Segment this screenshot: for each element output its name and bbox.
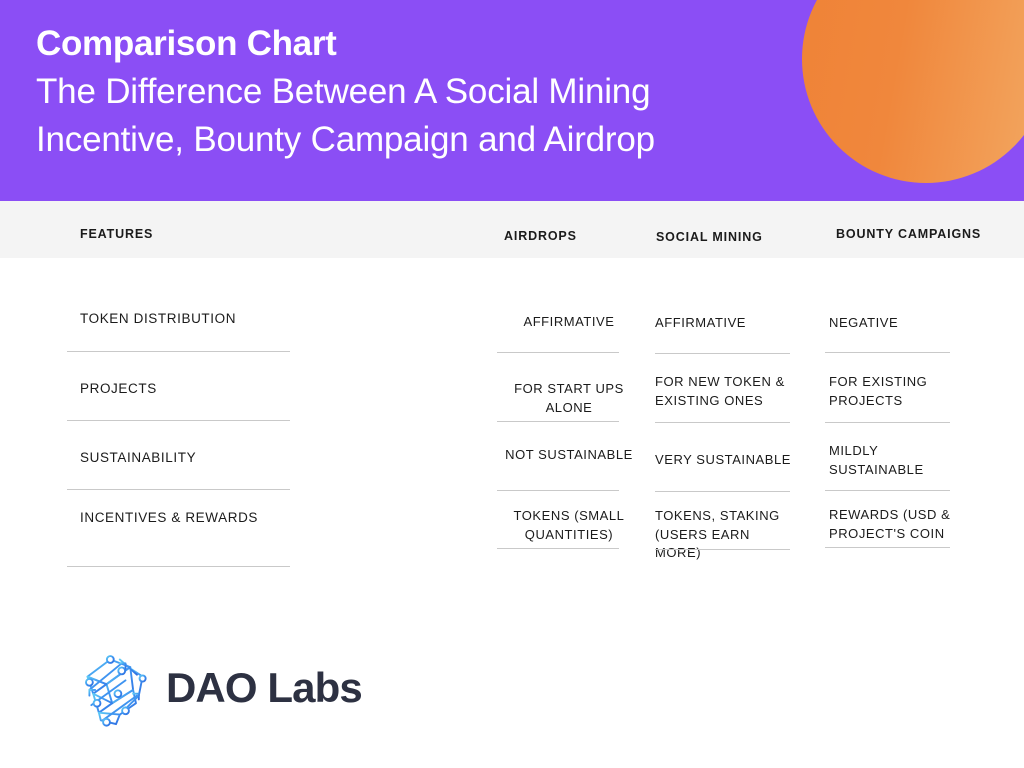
- row-divider: [497, 548, 619, 549]
- table-row: TOKEN DISTRIBUTION: [80, 310, 330, 329]
- dao-labs-network-mark: [78, 648, 154, 728]
- table-row: AFFIRMATIVE: [655, 314, 797, 333]
- table-row: SUSTAINABILITY: [80, 449, 330, 468]
- table-row: FOR EXISTING PROJECTS: [829, 373, 969, 410]
- row-divider: [67, 420, 290, 421]
- column-header-airdrops: AIRDROPS: [504, 229, 577, 243]
- table-row: AFFIRMATIVE: [494, 313, 644, 332]
- table-row: FOR START UPS ALONE: [494, 380, 644, 417]
- table-row: INCENTIVES & REWARDS: [80, 509, 330, 528]
- table-row: PROJECTS: [80, 380, 330, 399]
- header-banner: Comparison Chart The Difference Between …: [0, 0, 1024, 201]
- table-row: FOR NEW TOKEN & EXISTING ONES: [655, 373, 797, 410]
- table-row: REWARDS (USD & PROJECT'S COIN: [829, 506, 969, 543]
- table-column-header-row: FEATURES AIRDROPS SOCIAL MINING BOUNTY C…: [0, 201, 1024, 258]
- row-divider: [497, 421, 619, 422]
- table-row: TOKENS, STAKING (USERS EARN MORE): [655, 507, 797, 563]
- row-divider: [825, 547, 950, 548]
- column-header-bounty-campaigns: BOUNTY CAMPAIGNS: [836, 227, 981, 241]
- header-text-group: Comparison Chart The Difference Between …: [36, 20, 655, 164]
- row-divider: [655, 549, 790, 550]
- table-row: NEGATIVE: [829, 314, 969, 333]
- row-divider: [825, 422, 950, 423]
- column-header-social-mining: SOCIAL MINING: [656, 230, 763, 244]
- table-row: NOT SUSTAINABLE: [494, 446, 644, 465]
- page-subtitle-line-2: Incentive, Bounty Campaign and Airdrop: [36, 116, 655, 164]
- row-divider: [67, 566, 290, 567]
- row-divider: [497, 352, 619, 353]
- brand-logo: DAO Labs: [78, 648, 362, 728]
- brand-wordmark: DAO Labs: [166, 664, 362, 712]
- row-divider: [67, 351, 290, 352]
- comparison-table-body: TOKEN DISTRIBUTION AFFIRMATIVE AFFIRMATI…: [0, 258, 1024, 598]
- page-subtitle-line-1: The Difference Between A Social Mining: [36, 68, 655, 116]
- page-title: Comparison Chart: [36, 20, 655, 68]
- column-header-features: FEATURES: [80, 227, 153, 241]
- table-row: VERY SUSTAINABLE: [655, 451, 797, 470]
- row-divider: [825, 352, 950, 353]
- row-divider: [825, 490, 950, 491]
- row-divider: [67, 489, 290, 490]
- table-row: MILDLY SUSTAINABLE: [829, 442, 969, 479]
- row-divider: [497, 490, 619, 491]
- decorative-orange-circle: [802, 0, 1024, 183]
- row-divider: [655, 353, 790, 354]
- row-divider: [655, 422, 790, 423]
- table-row: TOKENS (SMALL QUANTITIES): [494, 507, 644, 544]
- row-divider: [655, 491, 790, 492]
